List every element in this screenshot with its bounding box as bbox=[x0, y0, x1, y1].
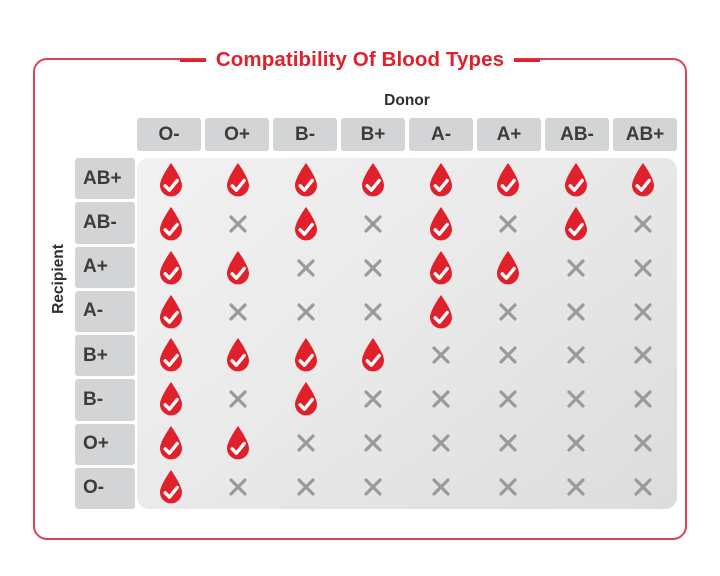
x-mark-icon bbox=[429, 343, 453, 367]
cell-O+-B+ bbox=[340, 421, 408, 465]
recipient-row-headers: AB+AB-A+A-B+B-O+O- bbox=[75, 158, 135, 509]
recipient-header-ominus: O- bbox=[75, 468, 135, 509]
cell-B--AB- bbox=[542, 377, 610, 421]
x-mark-icon bbox=[496, 431, 520, 455]
cell-A--AB- bbox=[542, 290, 610, 334]
compatibility-matrix bbox=[137, 158, 677, 509]
cell-B--B- bbox=[272, 377, 340, 421]
cell-AB+-AB- bbox=[542, 158, 610, 202]
cell-B+-O+ bbox=[205, 334, 273, 378]
cell-O--A- bbox=[407, 465, 475, 509]
matrix-row bbox=[137, 290, 677, 334]
x-mark-icon bbox=[496, 300, 520, 324]
donor-header-oplus: O+ bbox=[205, 118, 269, 151]
x-mark-icon bbox=[564, 343, 588, 367]
cell-B+-O- bbox=[137, 334, 205, 378]
donor-header-aplus: A+ bbox=[477, 118, 541, 151]
cell-B+-AB- bbox=[542, 334, 610, 378]
x-mark-icon bbox=[429, 431, 453, 455]
x-mark-icon bbox=[631, 475, 655, 499]
cell-O+-A+ bbox=[475, 421, 543, 465]
cell-AB+-A+ bbox=[475, 158, 543, 202]
cell-AB--B- bbox=[272, 202, 340, 246]
blood-drop-check-icon bbox=[494, 250, 522, 286]
blood-drop-check-icon bbox=[292, 206, 320, 242]
blood-drop-check-icon bbox=[224, 162, 252, 198]
matrix-row bbox=[137, 377, 677, 421]
donor-header-aminus: A- bbox=[409, 118, 473, 151]
blood-drop-check-icon bbox=[292, 337, 320, 373]
x-mark-icon bbox=[361, 212, 385, 236]
x-mark-icon bbox=[631, 212, 655, 236]
cell-B+-A+ bbox=[475, 334, 543, 378]
matrix-row bbox=[137, 158, 677, 202]
x-mark-icon bbox=[631, 431, 655, 455]
recipient-header-abplus: AB+ bbox=[75, 158, 135, 199]
cell-A+-A+ bbox=[475, 246, 543, 290]
cell-O--B- bbox=[272, 465, 340, 509]
recipient-header-bminus: B- bbox=[75, 379, 135, 420]
cell-O--O+ bbox=[205, 465, 273, 509]
recipient-header-abminus: AB- bbox=[75, 202, 135, 243]
x-mark-icon bbox=[496, 475, 520, 499]
x-mark-icon bbox=[429, 387, 453, 411]
x-mark-icon bbox=[631, 387, 655, 411]
blood-drop-check-icon bbox=[359, 337, 387, 373]
x-mark-icon bbox=[631, 343, 655, 367]
x-mark-icon bbox=[429, 475, 453, 499]
blood-drop-check-icon bbox=[157, 206, 185, 242]
cell-B+-B- bbox=[272, 334, 340, 378]
blood-drop-check-icon bbox=[359, 162, 387, 198]
cell-O+-O- bbox=[137, 421, 205, 465]
x-mark-icon bbox=[631, 300, 655, 324]
blood-drop-check-icon bbox=[157, 250, 185, 286]
x-mark-icon bbox=[294, 256, 318, 280]
cell-B+-A- bbox=[407, 334, 475, 378]
cell-AB+-AB+ bbox=[610, 158, 678, 202]
blood-drop-check-icon bbox=[157, 469, 185, 505]
blood-drop-check-icon bbox=[562, 162, 590, 198]
x-mark-icon bbox=[294, 475, 318, 499]
cell-O--AB- bbox=[542, 465, 610, 509]
blood-drop-check-icon bbox=[224, 250, 252, 286]
x-mark-icon bbox=[226, 387, 250, 411]
blood-drop-check-icon bbox=[427, 162, 455, 198]
x-mark-icon bbox=[564, 387, 588, 411]
cell-B--AB+ bbox=[610, 377, 678, 421]
x-mark-icon bbox=[564, 431, 588, 455]
donor-header-ominus: O- bbox=[137, 118, 201, 151]
cell-O+-AB- bbox=[542, 421, 610, 465]
cell-AB--B+ bbox=[340, 202, 408, 246]
cell-AB+-B+ bbox=[340, 158, 408, 202]
blood-drop-check-icon bbox=[292, 162, 320, 198]
x-mark-icon bbox=[294, 300, 318, 324]
cell-A--B- bbox=[272, 290, 340, 334]
cell-A--AB+ bbox=[610, 290, 678, 334]
blood-drop-check-icon bbox=[224, 425, 252, 461]
recipient-header-bplus: B+ bbox=[75, 335, 135, 376]
cell-A--A- bbox=[407, 290, 475, 334]
cell-A--O+ bbox=[205, 290, 273, 334]
blood-drop-check-icon bbox=[157, 381, 185, 417]
matrix-row bbox=[137, 202, 677, 246]
cell-AB--O- bbox=[137, 202, 205, 246]
blood-drop-check-icon bbox=[157, 337, 185, 373]
recipient-axis-label: Recipient bbox=[50, 219, 68, 339]
blood-drop-check-icon bbox=[427, 294, 455, 330]
blood-drop-check-icon bbox=[224, 337, 252, 373]
cell-B--O- bbox=[137, 377, 205, 421]
cell-A+-O- bbox=[137, 246, 205, 290]
x-mark-icon bbox=[226, 212, 250, 236]
x-mark-icon bbox=[226, 300, 250, 324]
cell-AB+-O+ bbox=[205, 158, 273, 202]
cell-A--B+ bbox=[340, 290, 408, 334]
cell-A+-B+ bbox=[340, 246, 408, 290]
x-mark-icon bbox=[361, 431, 385, 455]
blood-drop-check-icon bbox=[157, 294, 185, 330]
matrix-row bbox=[137, 465, 677, 509]
donor-axis-label: Donor bbox=[137, 92, 677, 110]
donor-header-abminus: AB- bbox=[545, 118, 609, 151]
x-mark-icon bbox=[496, 212, 520, 236]
blood-drop-check-icon bbox=[494, 162, 522, 198]
blood-drop-check-icon bbox=[629, 162, 657, 198]
x-mark-icon bbox=[496, 387, 520, 411]
blood-drop-check-icon bbox=[292, 381, 320, 417]
cell-AB+-A- bbox=[407, 158, 475, 202]
x-mark-icon bbox=[564, 300, 588, 324]
cell-B+-AB+ bbox=[610, 334, 678, 378]
cell-B--O+ bbox=[205, 377, 273, 421]
blood-drop-check-icon bbox=[427, 206, 455, 242]
cell-B+-B+ bbox=[340, 334, 408, 378]
cell-B--A+ bbox=[475, 377, 543, 421]
cell-AB+-O- bbox=[137, 158, 205, 202]
blood-drop-check-icon bbox=[157, 162, 185, 198]
cell-AB--AB+ bbox=[610, 202, 678, 246]
cell-A+-AB- bbox=[542, 246, 610, 290]
cell-O+-AB+ bbox=[610, 421, 678, 465]
recipient-header-aplus: A+ bbox=[75, 247, 135, 288]
x-mark-icon bbox=[361, 300, 385, 324]
donor-header-bplus: B+ bbox=[341, 118, 405, 151]
matrix-row bbox=[137, 421, 677, 465]
x-mark-icon bbox=[361, 475, 385, 499]
blood-drop-check-icon bbox=[157, 425, 185, 461]
cell-A--O- bbox=[137, 290, 205, 334]
cell-O--AB+ bbox=[610, 465, 678, 509]
x-mark-icon bbox=[361, 387, 385, 411]
donor-header-abplus: AB+ bbox=[613, 118, 677, 151]
x-mark-icon bbox=[564, 256, 588, 280]
x-mark-icon bbox=[361, 256, 385, 280]
cell-B--A- bbox=[407, 377, 475, 421]
cell-AB+-B- bbox=[272, 158, 340, 202]
cell-AB--AB- bbox=[542, 202, 610, 246]
donor-header-bminus: B- bbox=[273, 118, 337, 151]
recipient-header-oplus: O+ bbox=[75, 424, 135, 465]
cell-O--O- bbox=[137, 465, 205, 509]
matrix-row bbox=[137, 334, 677, 378]
cell-AB--A+ bbox=[475, 202, 543, 246]
cell-O+-O+ bbox=[205, 421, 273, 465]
cell-AB--A- bbox=[407, 202, 475, 246]
cell-AB--O+ bbox=[205, 202, 273, 246]
recipient-header-aminus: A- bbox=[75, 291, 135, 332]
cell-O--B+ bbox=[340, 465, 408, 509]
x-mark-icon bbox=[631, 256, 655, 280]
x-mark-icon bbox=[294, 431, 318, 455]
cell-A--A+ bbox=[475, 290, 543, 334]
cell-O--A+ bbox=[475, 465, 543, 509]
x-mark-icon bbox=[496, 343, 520, 367]
cell-O+-A- bbox=[407, 421, 475, 465]
x-mark-icon bbox=[564, 475, 588, 499]
x-mark-icon bbox=[226, 475, 250, 499]
cell-A+-B- bbox=[272, 246, 340, 290]
blood-drop-check-icon bbox=[562, 206, 590, 242]
donor-column-headers: O-O+B-B+A-A+AB-AB+ bbox=[137, 118, 677, 151]
matrix-row bbox=[137, 246, 677, 290]
cell-A+-O+ bbox=[205, 246, 273, 290]
blood-drop-check-icon bbox=[427, 250, 455, 286]
cell-A+-A- bbox=[407, 246, 475, 290]
cell-B--B+ bbox=[340, 377, 408, 421]
cell-A+-AB+ bbox=[610, 246, 678, 290]
cell-O+-B- bbox=[272, 421, 340, 465]
